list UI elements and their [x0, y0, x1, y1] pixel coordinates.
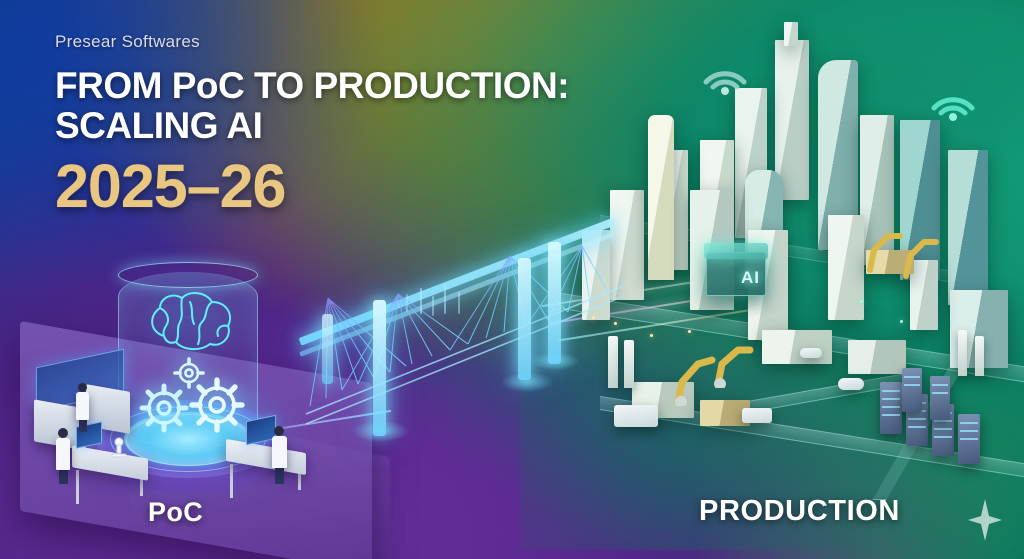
city-light: [860, 300, 863, 303]
holo-cylinder-top: [118, 262, 258, 288]
car-icon: [838, 378, 864, 390]
scientist-head: [78, 383, 87, 392]
truck-icon: [742, 408, 772, 423]
bridge-icon: [300, 238, 630, 458]
city-light: [900, 320, 903, 323]
factory-chimney: [975, 336, 984, 376]
scientist-icon: [272, 436, 287, 468]
scientist-legs: [59, 468, 68, 484]
building-ornate-spire: [648, 115, 674, 280]
ai-chip-label: AI: [741, 268, 760, 288]
distant-light: [458, 292, 460, 314]
scientist-icon: [76, 392, 89, 420]
factory-chimney: [624, 340, 634, 388]
desk-leg: [76, 470, 79, 504]
page-title: FROM PoC TO PRODUCTION: SCALING AI: [55, 66, 569, 146]
server-rack-icon: [902, 368, 922, 412]
year-range: 2025–26: [55, 156, 569, 217]
factory-chimney: [608, 336, 618, 388]
ai-chip-roof: [704, 243, 768, 259]
desk-leg: [230, 464, 233, 498]
server-rack-icon: [880, 382, 902, 434]
bridge-pylon: [322, 314, 333, 384]
bridge-pylon: [373, 300, 386, 436]
brand-name: Presear Softwares: [55, 32, 569, 52]
car-icon: [800, 348, 822, 358]
label-poc: PoC: [148, 497, 203, 528]
server-rack-icon: [958, 414, 980, 464]
scientist-legs: [79, 418, 87, 432]
truck-icon: [614, 405, 658, 427]
brain-icon: [142, 286, 238, 358]
label-production: PRODUCTION: [699, 495, 900, 528]
microscope-icon: [108, 436, 130, 460]
scientist-icon: [56, 438, 70, 470]
scientist-head: [58, 428, 68, 438]
bridge-pylon: [518, 258, 531, 380]
poster-canvas: AI: [0, 0, 1024, 559]
wifi-icon: [928, 78, 978, 122]
sparkle-icon: [968, 499, 1002, 541]
distant-light: [420, 288, 422, 314]
robot-arm-icon: [898, 232, 942, 280]
building-grid-tower: [948, 150, 988, 305]
server-rack-icon: [930, 376, 950, 420]
title-block: Presear Softwares FROM PoC TO PRODUCTION…: [55, 32, 569, 217]
scientist-legs: [275, 466, 284, 484]
distant-light: [432, 296, 434, 316]
scientist-head: [274, 426, 284, 436]
gear-icon: [172, 356, 206, 390]
distant-light: [406, 294, 408, 312]
plant-building: [848, 340, 906, 374]
building-tower-spire: [784, 22, 798, 46]
headline-line-1: FROM PoC TO PRODUCTION:: [55, 65, 569, 106]
distant-light: [444, 284, 446, 314]
warehouse: [762, 330, 832, 364]
headline-line-2: SCALING AI: [55, 106, 569, 146]
bridge-pylon: [548, 242, 561, 364]
robot-arm-icon: [710, 338, 756, 388]
building-front-3: [828, 215, 864, 320]
city-light: [688, 330, 691, 333]
factory-chimney: [958, 330, 967, 376]
city-light: [650, 334, 653, 337]
wifi-icon: [700, 52, 750, 96]
